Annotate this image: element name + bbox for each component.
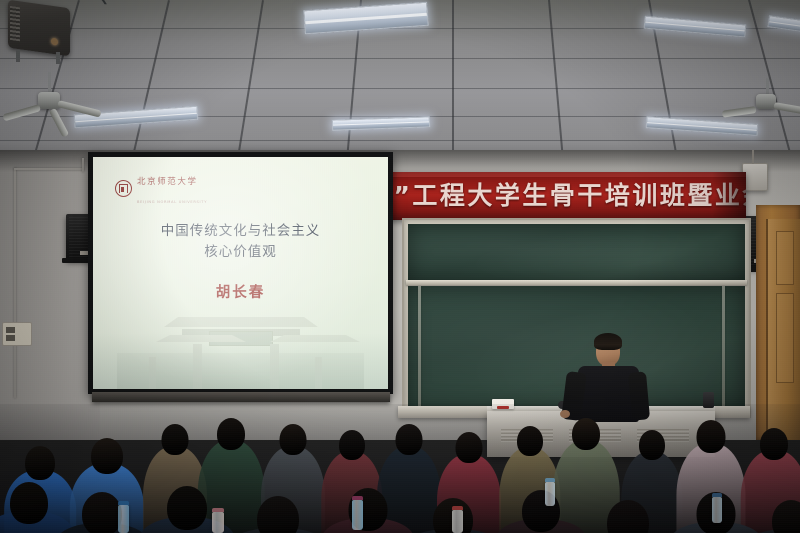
podium-red-marker <box>497 406 509 409</box>
audience-member-head <box>772 500 800 533</box>
red-event-banner: 马”工程大学生骨干培训班暨业余团校 <box>372 172 746 220</box>
bottle-cap <box>452 506 463 510</box>
slide-title: 中国传统文化与社会主义 核心价值观 <box>93 221 388 263</box>
audience-member-head <box>456 432 483 463</box>
audience-member <box>332 488 404 533</box>
audience-member-head <box>257 496 299 533</box>
university-seal-icon <box>115 180 132 197</box>
ceiling-light-fixture <box>303 2 428 35</box>
banner-text: 马”工程大学生骨干培训班暨业余团校 <box>372 172 746 220</box>
audience-member-head <box>91 438 123 474</box>
ceiling-fan-icon <box>38 92 60 109</box>
slide-speaker-name: 胡长春 <box>93 281 388 302</box>
projector-lens-icon <box>51 38 58 46</box>
audience-member-head <box>760 428 788 460</box>
water-bottle <box>212 512 224 533</box>
bottle-cap <box>712 493 722 497</box>
lecture-hall-photo: 马”工程大学生骨干培训班暨业余团校 <box>0 0 800 533</box>
wall-conduit <box>82 158 84 172</box>
audience-member-head <box>607 500 649 533</box>
audience-member-head <box>82 492 122 533</box>
projector-vent <box>10 6 20 41</box>
audience-member-head <box>572 418 600 450</box>
audience-member-head <box>162 424 189 455</box>
audience-member-head <box>639 430 665 460</box>
audience-member <box>506 490 576 533</box>
ceiling-light-fixture <box>644 16 747 38</box>
slide-title-line2: 核心价值观 <box>93 242 388 263</box>
water-bottle <box>452 510 463 533</box>
audience-member-head <box>217 418 245 450</box>
fan-blade <box>3 104 41 121</box>
water-bottle <box>712 497 722 523</box>
water-bottle <box>352 500 363 530</box>
water-bottle <box>118 505 129 533</box>
presenter-hand <box>560 410 570 418</box>
audience-member <box>0 482 64 533</box>
ceiling-fan-rod <box>48 72 51 94</box>
light-switch-icon[interactable] <box>2 322 32 346</box>
wall-conduit <box>14 168 16 398</box>
audience-member <box>590 500 666 533</box>
chalkboard-divider <box>418 286 421 408</box>
audience-member-head <box>10 482 48 524</box>
audience-member-head <box>396 424 423 455</box>
water-bottle <box>545 482 555 506</box>
projection-screen-frame: 北京师范大学 BEIJING NORMAL UNIVERSITY 中国传统文化与… <box>88 152 393 394</box>
audience-member-head <box>280 424 307 455</box>
screen-bottom-bar <box>92 392 390 402</box>
slide-university-logo: 北京师范大学 BEIJING NORMAL UNIVERSITY <box>115 169 207 207</box>
projector-cable <box>60 0 110 18</box>
projection-screen: 北京师范大学 BEIJING NORMAL UNIVERSITY 中国传统文化与… <box>93 157 388 389</box>
audience-member <box>756 500 800 533</box>
institution-name-cn: 北京师范大学 <box>137 177 198 187</box>
audience-member-head <box>517 426 543 456</box>
audience-member <box>240 496 316 533</box>
chalkboard-divider <box>722 286 725 408</box>
door-panel <box>766 219 800 440</box>
chalkboard-panel-upper <box>408 224 745 280</box>
wooden-door-icon[interactable] <box>756 205 800 440</box>
presenter-hair <box>594 333 622 350</box>
banner-shadow-right <box>712 172 746 220</box>
slide-title-line1: 中国传统文化与社会主义 <box>93 221 388 242</box>
audience-member-head <box>25 446 55 480</box>
bottle-cap <box>118 501 129 505</box>
fan-blade <box>49 108 69 138</box>
ceiling-light-fixture <box>767 15 800 33</box>
bottle-cap <box>545 478 555 482</box>
wall-conduit <box>14 168 84 170</box>
audience-member-head <box>339 430 365 460</box>
institution-name-en: BEIJING NORMAL UNIVERSITY <box>137 200 207 204</box>
bottle-cap <box>212 508 224 512</box>
chalkboard-rail <box>406 280 747 285</box>
ceiling-light-fixture <box>332 116 430 130</box>
ceiling <box>0 0 800 168</box>
audience-member-head <box>697 420 726 453</box>
bottle-cap <box>352 496 363 500</box>
podium-cup <box>703 392 714 408</box>
screen-bottom-shading <box>93 333 388 389</box>
ceiling-light-fixture <box>646 116 759 136</box>
audience-member-head <box>167 486 207 530</box>
